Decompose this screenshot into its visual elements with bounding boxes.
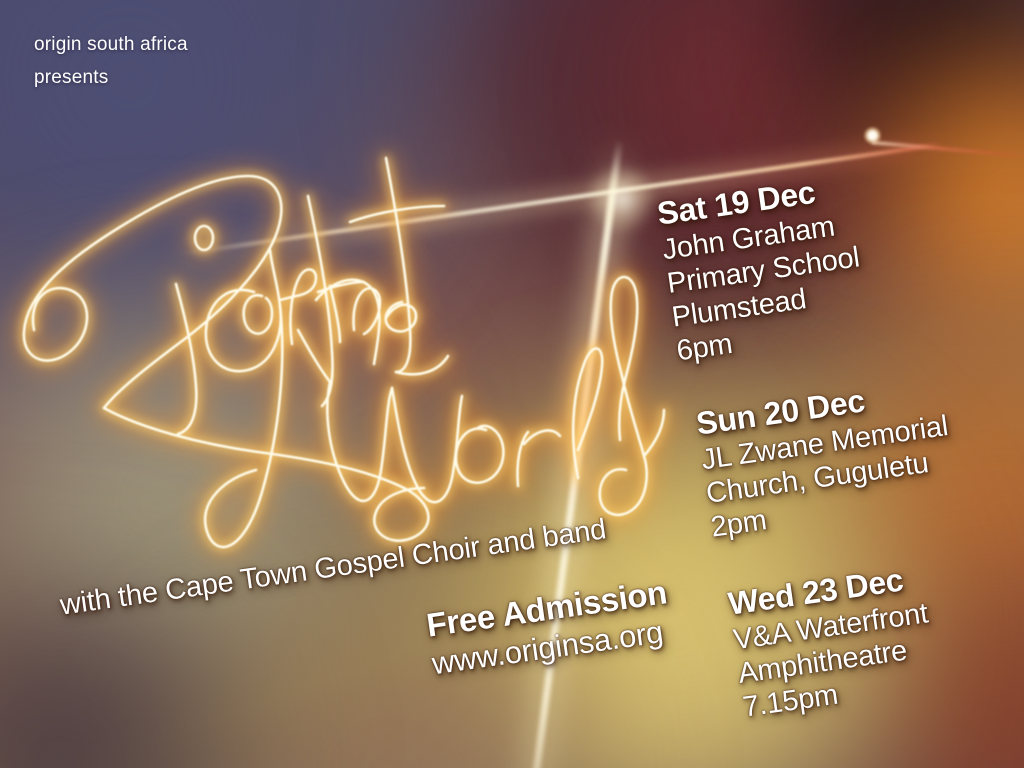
event-listing: Sat 19 Dec John Graham Primary School Pl… — [655, 169, 871, 369]
presenter-line-2: presents — [34, 61, 188, 94]
presenter-line-1: origin south africa — [34, 28, 188, 61]
point-light-spark — [864, 127, 881, 144]
poster-canvas: origin south africa presents with the Ca… — [0, 0, 1024, 768]
light-cross-flare — [586, 163, 658, 235]
presenter-credit: origin south africa presents — [34, 28, 188, 95]
event-listing: Wed 23 Dec V&A Waterfront Amphitheatre 7… — [726, 559, 940, 725]
